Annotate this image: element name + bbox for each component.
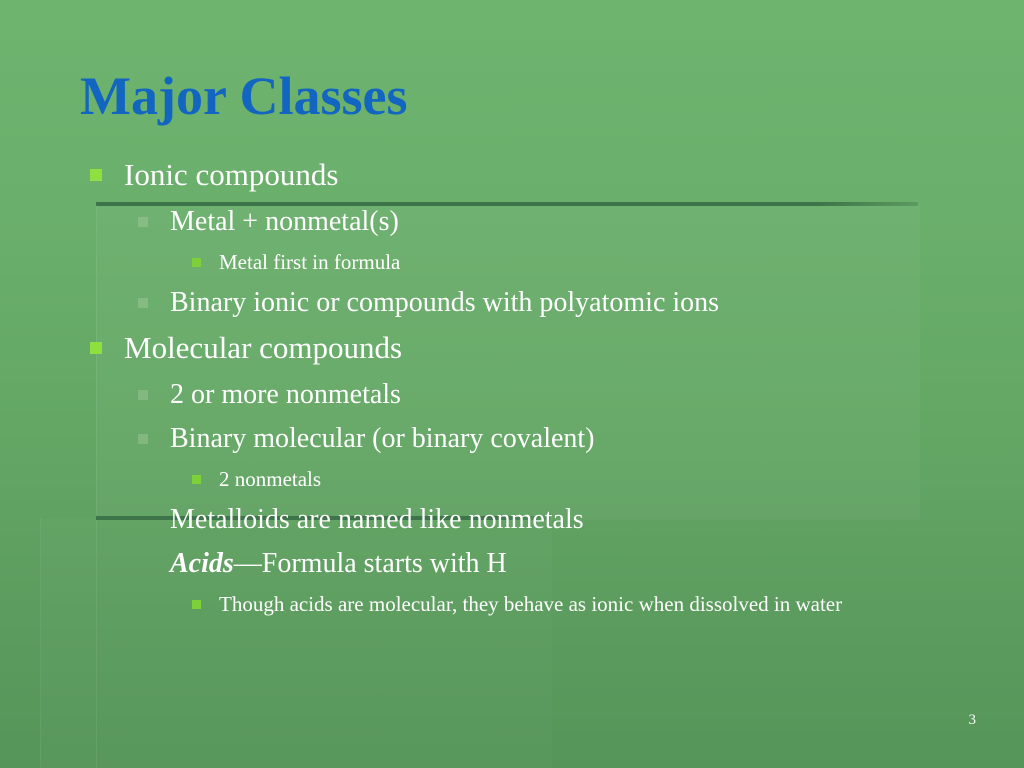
presentation-slide: Major Classes Ionic compounds Metal + no… xyxy=(0,0,1024,768)
square-bullet-icon xyxy=(138,217,148,227)
square-bullet-icon xyxy=(138,298,148,308)
acids-emphasis: Acids xyxy=(170,548,234,579)
bullet-line-level3: Metal first in formula xyxy=(0,244,1024,281)
square-bullet-icon xyxy=(192,258,201,267)
page-title: Major Classes xyxy=(80,68,407,125)
square-bullet-icon xyxy=(90,342,102,354)
bullet-text: Binary ionic or compounds with polyatomi… xyxy=(170,281,1024,325)
bullet-line-level2: Binary molecular (or binary covalent) xyxy=(0,417,1024,461)
bullet-line-level3: Though acids are molecular, they behave … xyxy=(0,586,1024,623)
square-bullet-icon xyxy=(90,169,102,181)
bullet-text: Metal + nonmetal(s) xyxy=(170,200,1024,244)
text-line-acids: Acids—Formula starts with H xyxy=(0,542,1024,586)
bullet-line-level2: 2 or more nonmetals xyxy=(0,373,1024,417)
bullet-line-level2: Binary ionic or compounds with polyatomi… xyxy=(0,281,1024,325)
square-bullet-icon xyxy=(192,600,201,609)
slide-body-content: Ionic compounds Metal + nonmetal(s) Meta… xyxy=(0,152,1024,623)
square-bullet-icon xyxy=(138,434,148,444)
text-line-metalloids: Metalloids are named like nonmetals xyxy=(0,498,1024,542)
bullet-text-composite: Acids—Formula starts with H xyxy=(170,542,1024,586)
bullet-text: 2 or more nonmetals xyxy=(170,373,1024,417)
bullet-line-level1: Molecular compounds xyxy=(0,325,1024,371)
bullet-placeholder xyxy=(138,515,148,525)
bullet-text: Though acids are molecular, they behave … xyxy=(219,586,879,623)
square-bullet-icon xyxy=(138,390,148,400)
page-number: 3 xyxy=(969,713,977,728)
acids-remainder: —Formula starts with H xyxy=(234,548,507,579)
bullet-text: Binary molecular (or binary covalent) xyxy=(170,417,1024,461)
bullet-text: Ionic compounds xyxy=(124,152,1024,198)
bullet-text: Metal first in formula xyxy=(219,244,879,281)
bullet-line-level3: 2 nonmetals xyxy=(0,461,1024,498)
bullet-placeholder xyxy=(138,559,148,569)
bullet-text: Metalloids are named like nonmetals xyxy=(170,498,1024,542)
bullet-text: Molecular compounds xyxy=(124,325,1024,371)
square-bullet-icon xyxy=(192,475,201,484)
bullet-text: 2 nonmetals xyxy=(219,461,879,498)
bullet-line-level1: Ionic compounds xyxy=(0,152,1024,198)
bullet-line-level2: Metal + nonmetal(s) xyxy=(0,200,1024,244)
